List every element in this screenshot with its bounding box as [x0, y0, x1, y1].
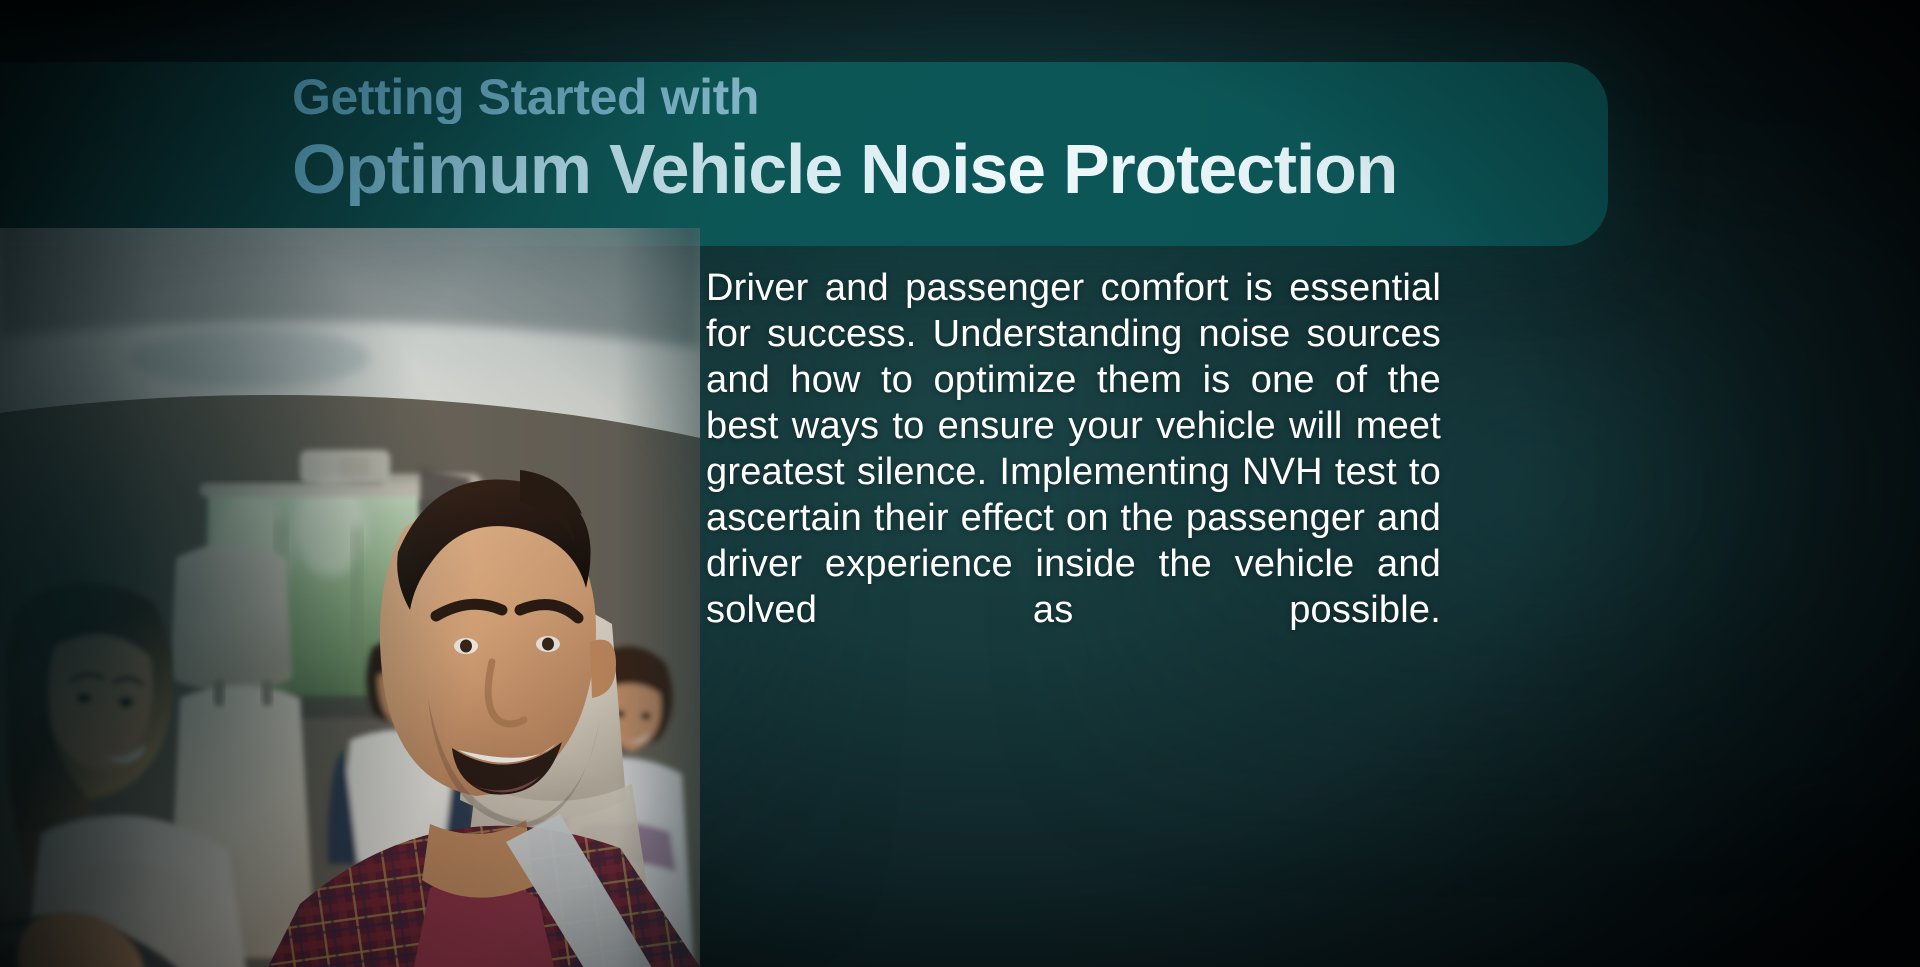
- body-paragraph: Driver and passenger comfort is essentia…: [706, 265, 1441, 679]
- heading-block: Getting Started with Optimum Vehicle Noi…: [292, 70, 1472, 206]
- slide-canvas: Getting Started with Optimum Vehicle Noi…: [0, 0, 1920, 967]
- main-title: Optimum Vehicle Noise Protection: [292, 132, 1472, 206]
- eyebrow-heading: Getting Started with: [292, 70, 1472, 124]
- family-in-car-illustration: [0, 228, 700, 967]
- family-in-car-photo: [0, 228, 700, 967]
